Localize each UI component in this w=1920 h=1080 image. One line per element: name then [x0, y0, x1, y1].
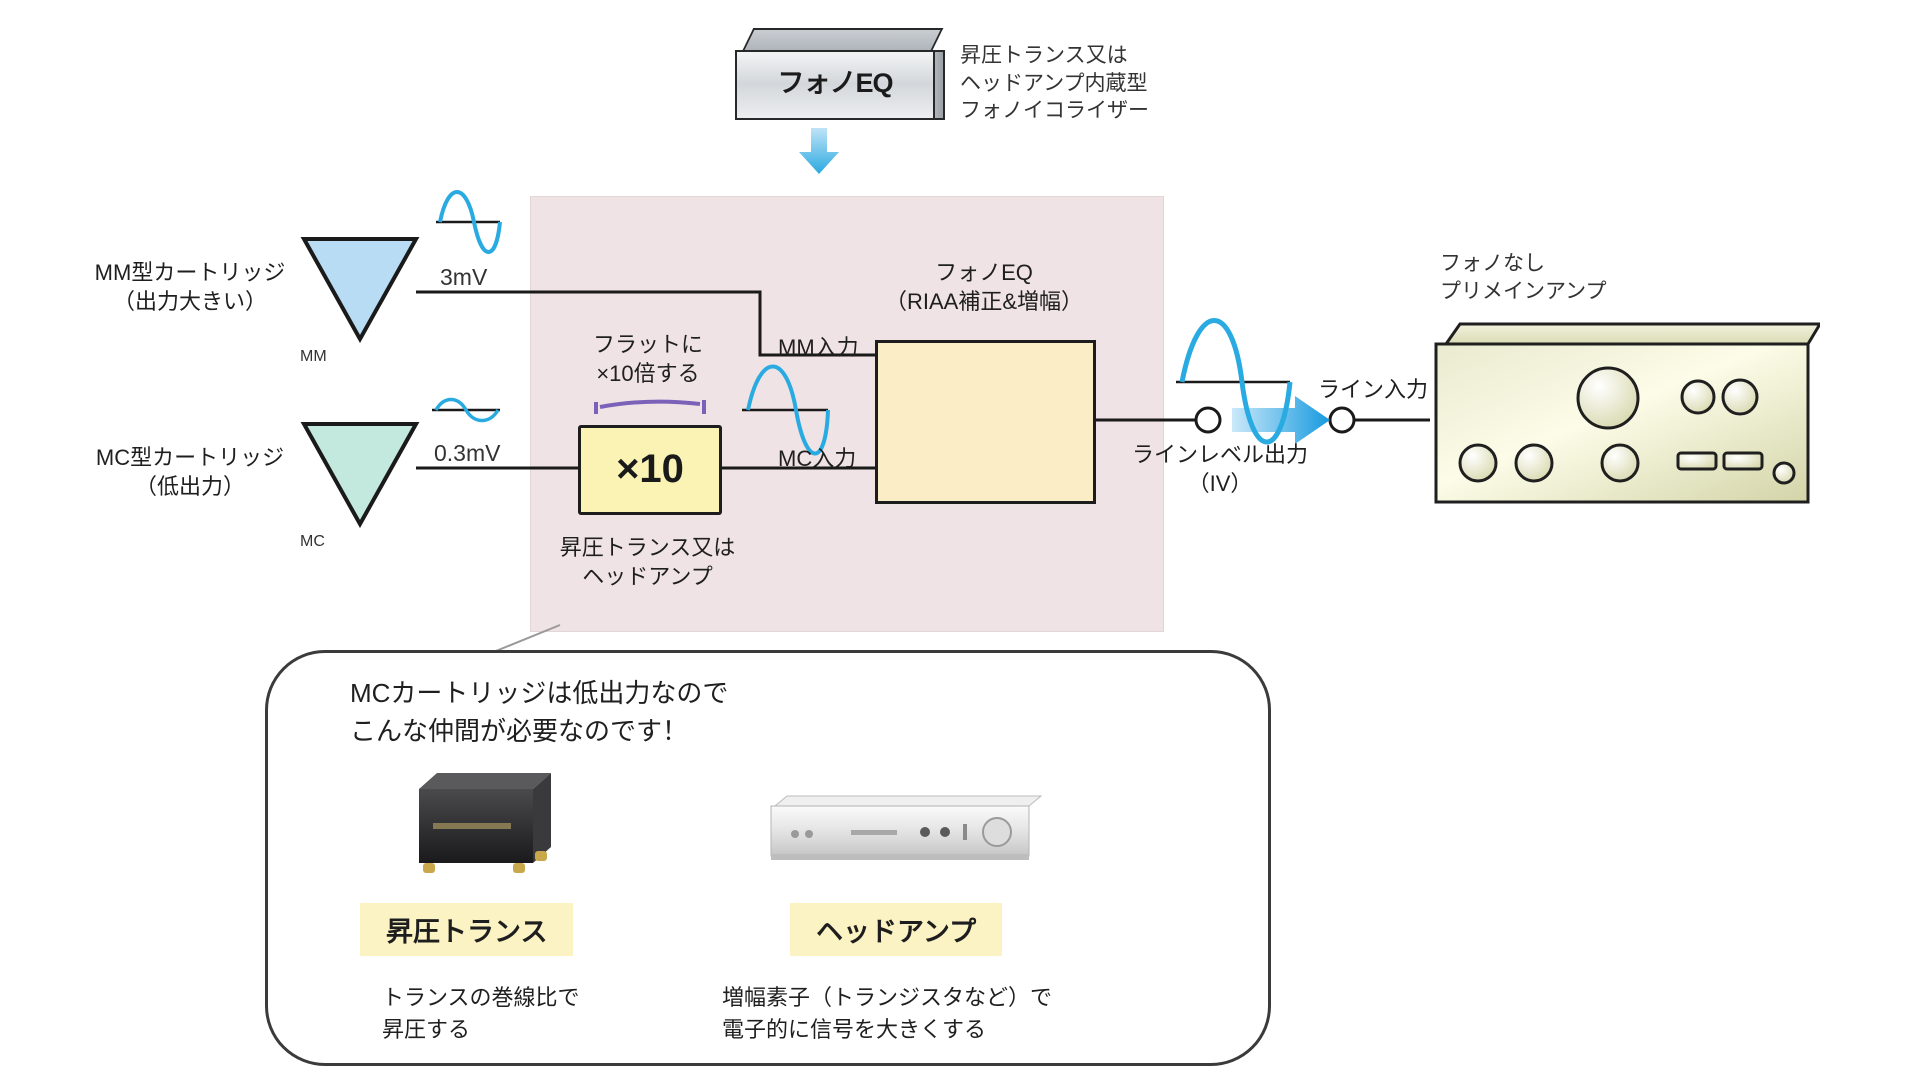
phono-eq-stage-title: フォノEQ （RIAA補正&増幅）	[860, 258, 1108, 316]
step-up-transformer-image	[405, 765, 565, 880]
callout-item-0-title: 昇圧トランス	[360, 903, 573, 956]
waveform-mm-input	[436, 192, 500, 252]
amplifier-caption: フォノなし プリメインアンプ	[1440, 250, 1607, 305]
cartridge-mm-output-voltage: 3mV	[440, 262, 487, 292]
line-level-output-terminal	[1196, 408, 1220, 432]
amp-knob-1	[1682, 381, 1714, 413]
amp-knob-4	[1516, 445, 1552, 481]
amp-knob-2	[1723, 380, 1757, 414]
head-amplifier-image	[765, 790, 1045, 868]
callout-item-1-title: ヘッドアンプ	[790, 903, 1002, 956]
cartridge-mm-badge: MM	[300, 348, 420, 366]
line-input-label: ライン入力	[1318, 375, 1428, 404]
line-input-terminal	[1330, 408, 1354, 432]
cartridge-mm: MM	[300, 235, 420, 366]
phono-eq-stage-box	[875, 340, 1096, 504]
line-level-output-label: ラインレベル出力 （IV）	[1120, 440, 1320, 498]
callout-item-1-desc: 増幅素子（トランジスタなど）で 電子的に信号を大きくする	[722, 982, 1052, 1046]
callout-headline: MCカートリッジは低出力なので こんな仲間が必要なのです！	[350, 675, 728, 750]
amp-knob-3	[1460, 445, 1496, 481]
amp-small-knob	[1774, 463, 1794, 483]
cartridge-mc: MC	[300, 420, 420, 551]
amp-switch-1	[1678, 453, 1716, 469]
cartridge-mc-output-voltage: 0.3mV	[434, 438, 500, 468]
booster-above-label: フラットに ×10倍する	[568, 330, 728, 388]
integrated-amplifier	[1430, 318, 1820, 508]
mc-input-label: MC入力	[778, 444, 856, 473]
cartridge-mm-label: MM型カートリッジ （出力大きい）	[90, 258, 290, 316]
cartridge-mc-badge: MC	[300, 533, 420, 551]
flat-response-curve	[600, 402, 700, 407]
callout-item-0-desc: トランスの巻線比で 昇圧する	[382, 982, 580, 1046]
amp-switch-2	[1724, 453, 1762, 469]
booster-x10-label: ×10	[581, 428, 719, 510]
waveform-boosted	[742, 367, 828, 454]
booster-x10-box: ×10	[578, 425, 722, 515]
waveform-mc-input	[432, 400, 500, 421]
callout-item-0-title-wrap: 昇圧トランス	[360, 903, 573, 956]
mm-input-label: MM入力	[778, 333, 859, 362]
amp-knob-5	[1602, 445, 1638, 481]
volume-knob	[1578, 368, 1638, 428]
booster-below-label: 昇圧トランス又は ヘッドアンプ	[545, 533, 750, 591]
callout-item-1-title-wrap: ヘッドアンプ	[790, 903, 1002, 956]
cartridge-mc-label: MC型カートリッジ （低出力）	[90, 443, 290, 501]
